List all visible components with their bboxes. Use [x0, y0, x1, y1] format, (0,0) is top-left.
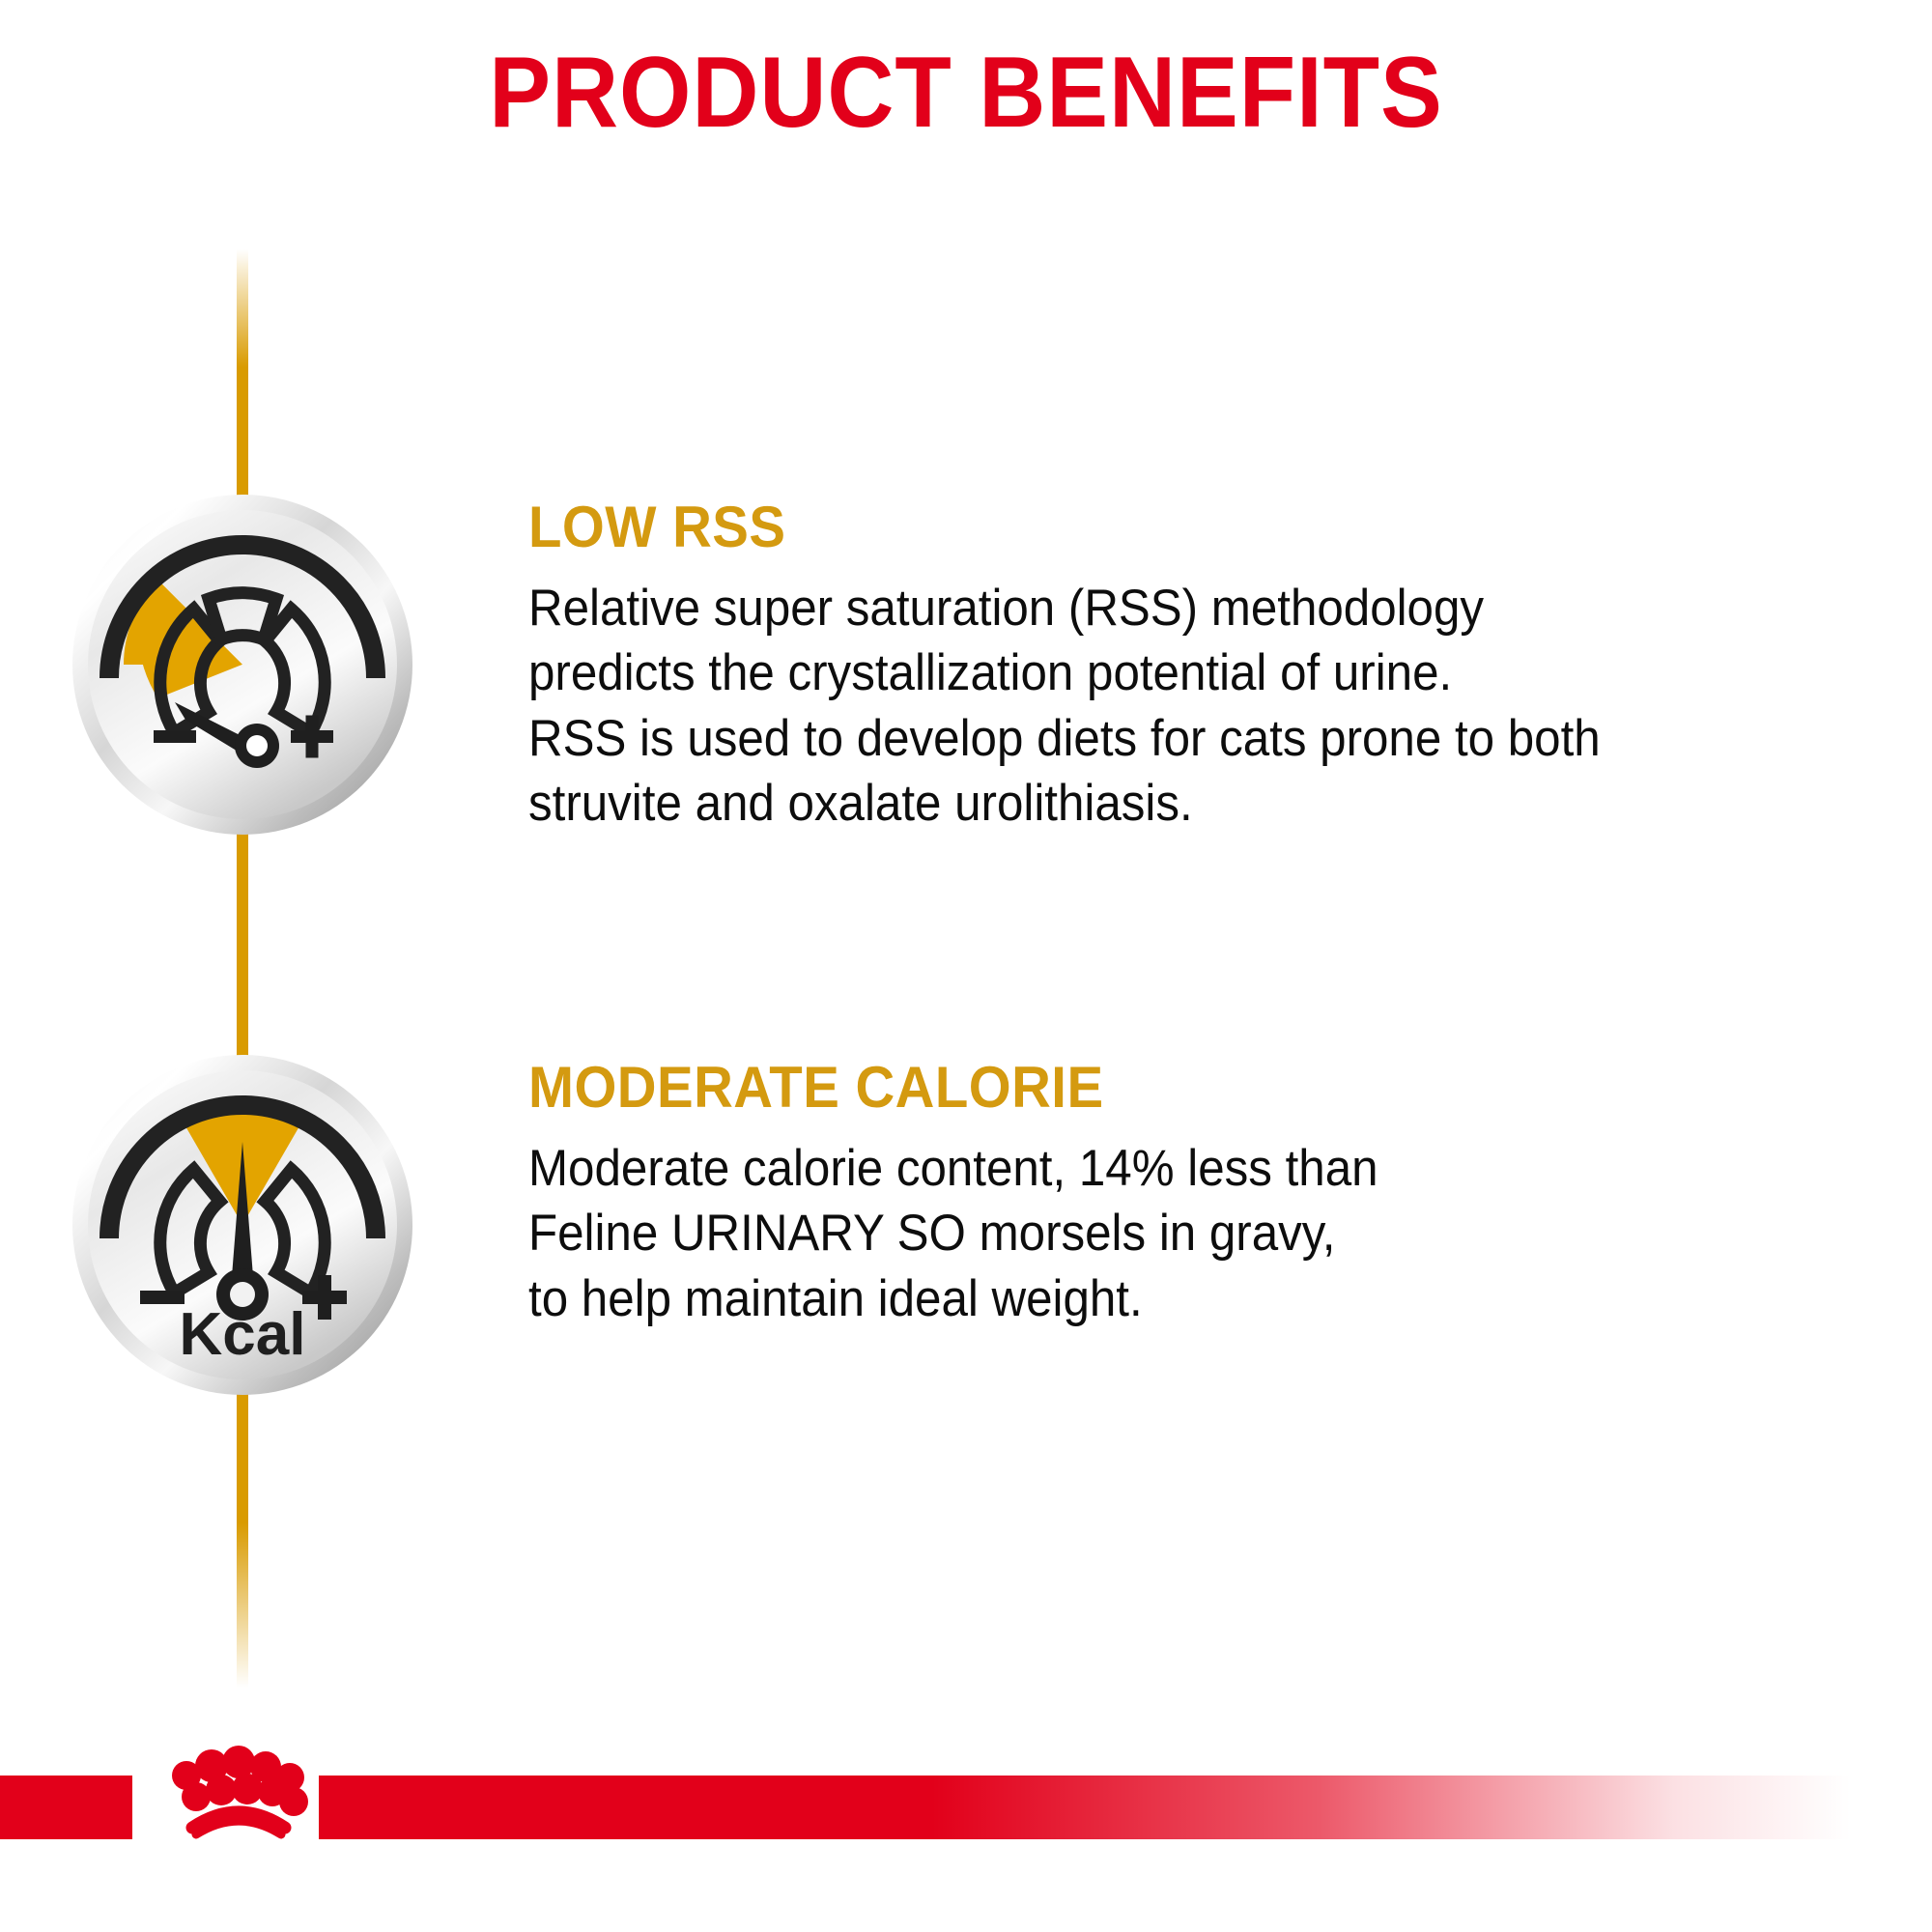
benefit-body-line: RSS is used to develop diets for cats pr… [528, 706, 1669, 771]
timeline-connector-bottom [237, 1388, 248, 1688]
benefit-body-line: struvite and oxalate urolithiasis. [528, 771, 1669, 836]
benefit-body-line: Relative super saturation (RSS) methodol… [528, 576, 1669, 640]
benefit-body-line: Moderate calorie content, 14% less than [528, 1136, 1669, 1201]
benefit-text-low-rss: LOW RSS Relative super saturation (RSS) … [528, 498, 1755, 836]
footer-bar [0, 1776, 1932, 1839]
footer-bar-right-segment [319, 1776, 1932, 1839]
benefit-heading: LOW RSS [528, 498, 1682, 556]
timeline-connector-middle [237, 826, 248, 1072]
timeline-connector-top [237, 249, 248, 512]
benefit-item-moderate-calorie: Kcal MODERATE CALORIE Moderate calorie c… [0, 1053, 1932, 1381]
low-rss-gauge-icon [71, 493, 414, 837]
benefit-heading: MODERATE CALORIE [528, 1059, 1682, 1117]
benefit-text-moderate-calorie: MODERATE CALORIE Moderate calorie conten… [528, 1059, 1755, 1331]
royal-canin-crown-logo [132, 1712, 326, 1839]
gauge-center-label: Kcal [180, 1301, 306, 1368]
footer-bar-left-segment [0, 1776, 132, 1839]
benefit-body: Moderate calorie content, 14% less than … [528, 1136, 1669, 1331]
benefit-body-line: Feline URINARY SO morsels in gravy, [528, 1201, 1669, 1265]
benefit-item-low-rss: LOW RSS Relative super saturation (RSS) … [0, 493, 1932, 821]
page-title: PRODUCT BENEFITS [77, 41, 1855, 146]
benefit-body-line: predicts the crystallization potential o… [528, 640, 1669, 705]
benefit-body-line: to help maintain ideal weight. [528, 1266, 1669, 1331]
moderate-calorie-gauge-icon: Kcal [71, 1053, 414, 1397]
benefit-body: Relative super saturation (RSS) methodol… [528, 576, 1669, 836]
